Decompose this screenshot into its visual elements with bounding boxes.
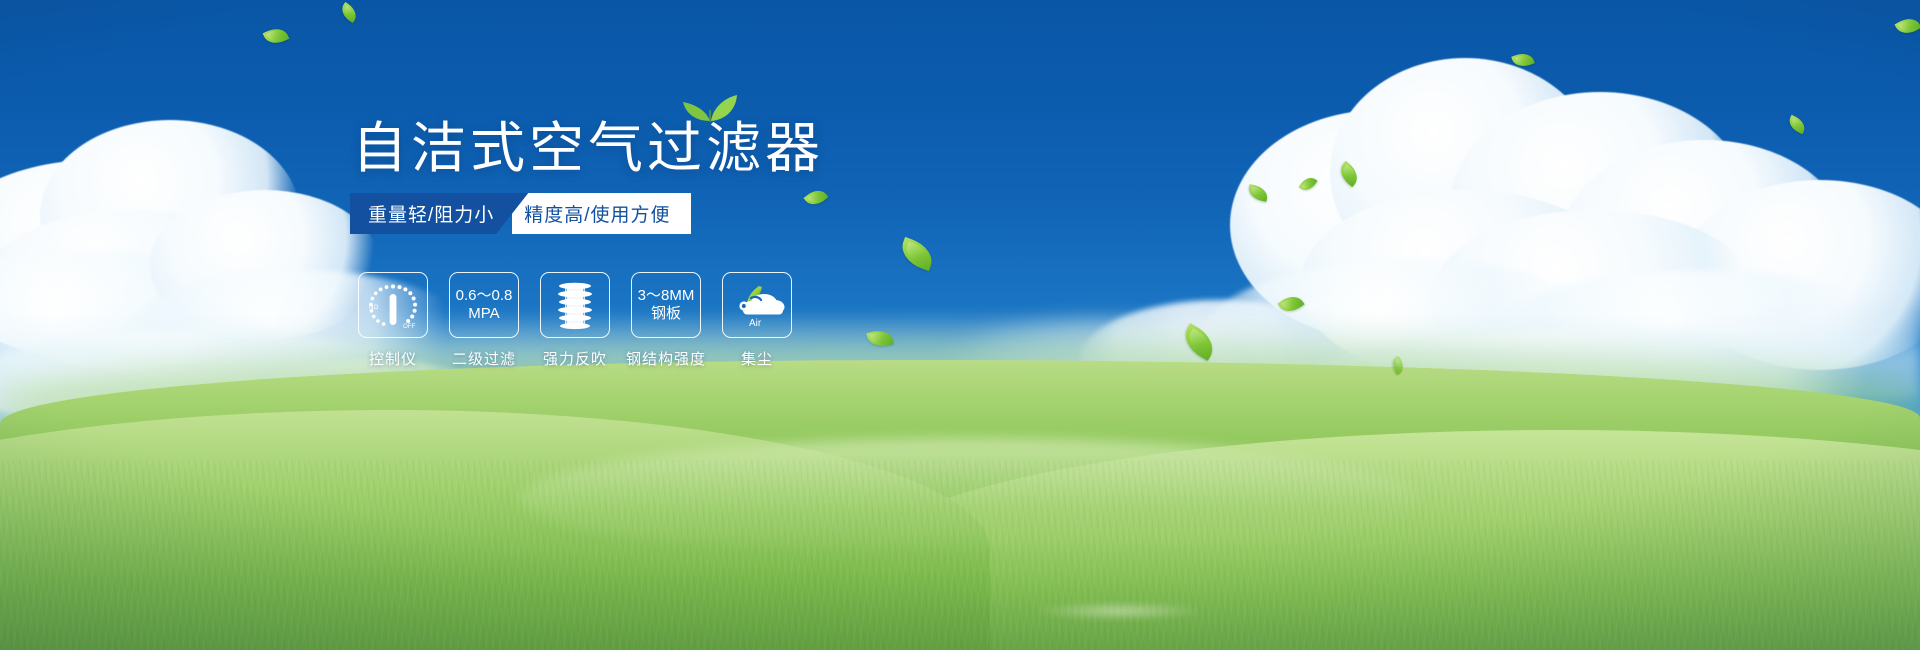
feature-label: 强力反吹 <box>543 348 607 369</box>
pressure-range: 0.6～0.8 <box>456 287 513 305</box>
feature-label: 集尘 <box>741 348 773 369</box>
feature-label: 钢结构强度 <box>626 348 706 369</box>
tag-weight-resistance: 重量轻/阻力小 <box>350 193 528 234</box>
feature-icon-box: 3～8MM 钢板 <box>631 272 701 338</box>
feature-item[interactable]: 强力反吹 <box>540 272 610 369</box>
feature-item[interactable]: NO OFF 控制仪 <box>358 272 428 369</box>
feature-label: 控制仪 <box>369 348 417 369</box>
pressure-text-icon: 0.6～0.8 MPA <box>456 287 513 323</box>
banner-content: 自洁式空气过滤器 重量轻/阻力小 精度高/使用方便 <box>0 0 1920 650</box>
feature-list: NO OFF 控制仪 0.6～0.8 MPA 二级过滤 <box>358 272 792 369</box>
gauge-icon: NO OFF <box>365 279 421 331</box>
gauge-on-label: NO <box>369 304 378 311</box>
feature-icon-box <box>540 272 610 338</box>
page-title: 自洁式空气过滤器 <box>352 118 824 178</box>
feature-label: 二级过滤 <box>452 348 516 369</box>
steel-material: 钢板 <box>638 305 695 323</box>
tag-group: 重量轻/阻力小 精度高/使用方便 <box>350 193 691 234</box>
feature-icon-box: 0.6～0.8 MPA <box>449 272 519 338</box>
pressure-unit: MPA <box>456 305 513 323</box>
filter-cartridge-icon <box>552 279 598 331</box>
feature-item[interactable]: Air 集尘 <box>722 272 792 369</box>
air-cloud-icon: Air <box>728 280 786 330</box>
feature-icon-box: NO OFF <box>358 272 428 338</box>
gauge-off-label: OFF <box>403 323 416 330</box>
feature-item[interactable]: 0.6～0.8 MPA 二级过滤 <box>449 272 519 369</box>
steel-plate-text-icon: 3～8MM 钢板 <box>638 287 695 323</box>
banner-stage: 自洁式空气过滤器 重量轻/阻力小 精度高/使用方便 <box>0 0 1920 650</box>
feature-icon-box: Air <box>722 272 792 338</box>
tag-precision-convenience: 精度高/使用方便 <box>512 193 690 234</box>
steel-thickness: 3～8MM <box>638 287 695 305</box>
air-label: Air <box>749 318 762 329</box>
feature-item[interactable]: 3～8MM 钢板 钢结构强度 <box>631 272 701 369</box>
